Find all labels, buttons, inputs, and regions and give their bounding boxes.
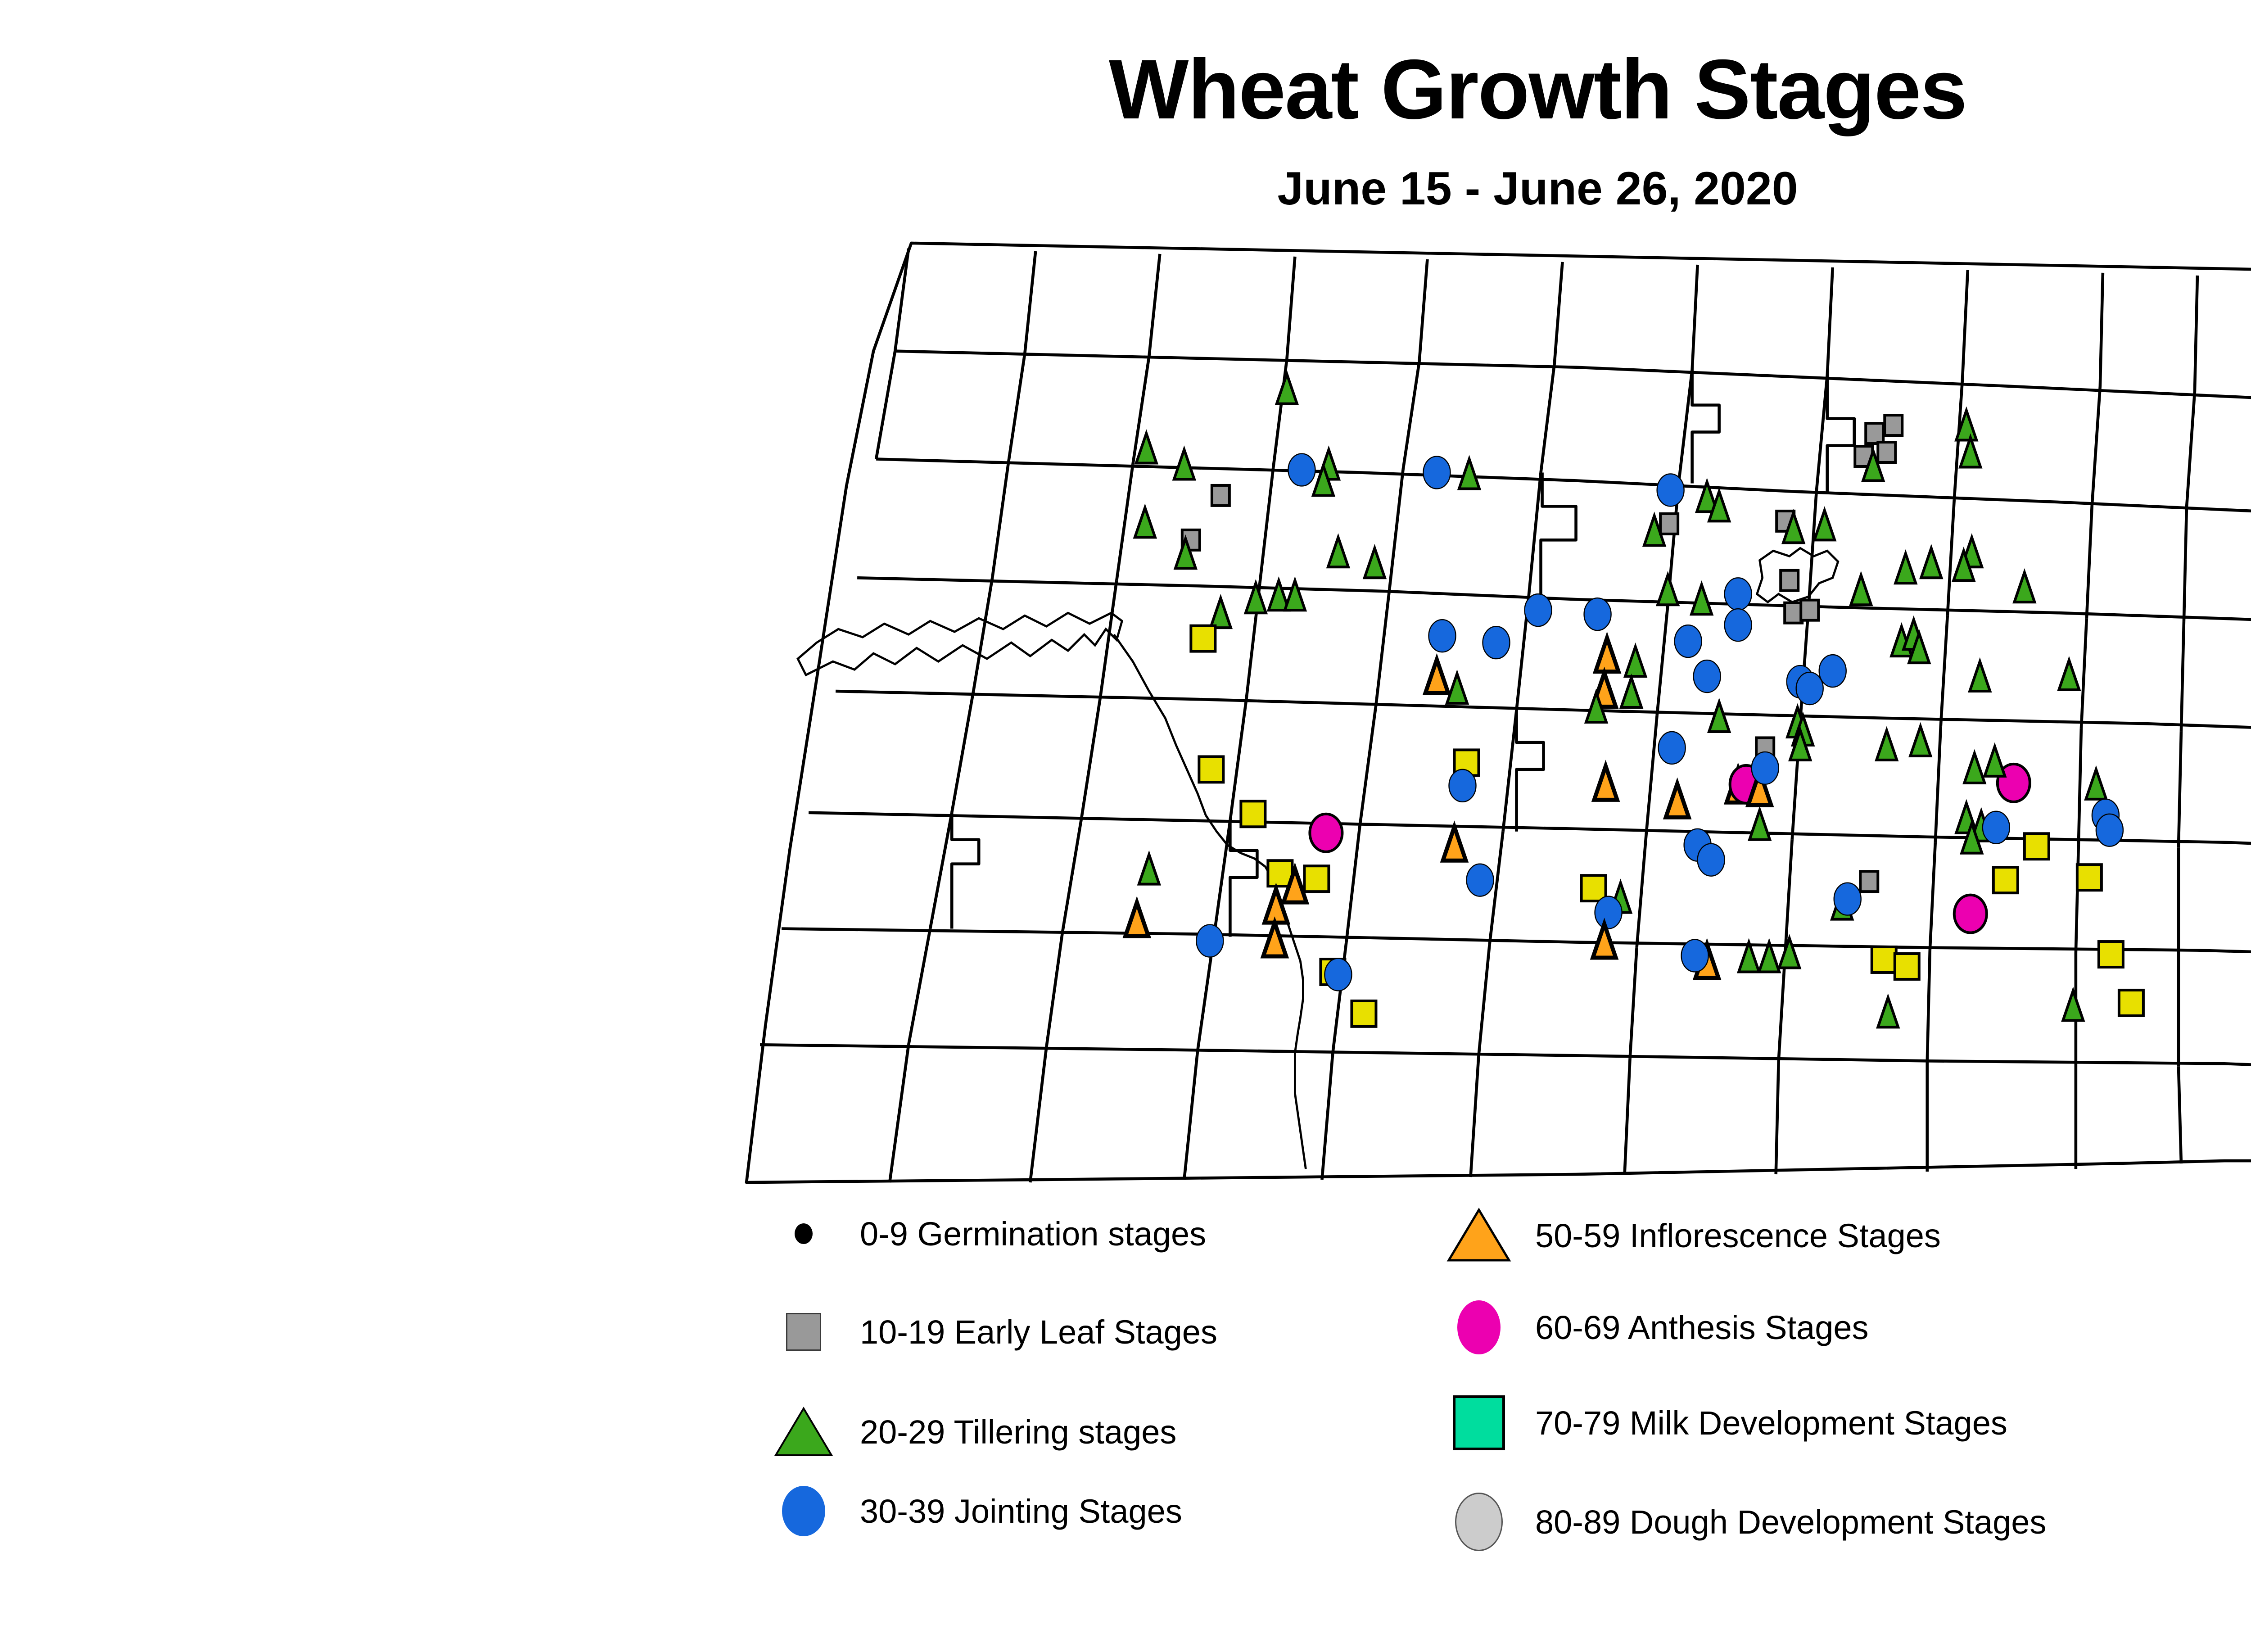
map-marker-20-29[interactable] bbox=[1277, 374, 1297, 404]
map-marker-20-29[interactable] bbox=[1447, 674, 1467, 703]
map-marker-70-79[interactable] bbox=[1304, 866, 1329, 892]
teal-square-icon bbox=[1432, 1378, 1526, 1468]
map-marker-10-19[interactable] bbox=[1885, 415, 1902, 435]
map-marker-20-29[interactable] bbox=[1851, 575, 1871, 605]
map-marker-20-29[interactable] bbox=[1328, 537, 1348, 567]
map-marker-30-39[interactable] bbox=[1423, 457, 1450, 489]
map-marker-20-29[interactable] bbox=[1136, 434, 1157, 463]
legend-item-early-leaf[interactable]: 10-19 Early Leaf Stages bbox=[756, 1287, 1522, 1377]
legend-item-milk[interactable]: 70-79 Milk Development Stages bbox=[1432, 1378, 2197, 1468]
map-marker-70-79[interactable] bbox=[1895, 954, 1919, 979]
legend-item-anthesis[interactable]: 60-69 Anthesis Stages bbox=[1432, 1282, 2197, 1372]
map-marker-30-39[interactable] bbox=[1525, 594, 1552, 626]
legend-label-early-leaf: 10-19 Early Leaf Stages bbox=[860, 1287, 1217, 1377]
map-marker-30-39[interactable] bbox=[1584, 598, 1611, 630]
map-marker-70-79[interactable] bbox=[2025, 833, 2049, 859]
map-marker-20-29[interactable] bbox=[1960, 438, 1980, 467]
map-marker-20-29[interactable] bbox=[1459, 459, 1479, 489]
legend-label-tillering: 20-29 Tillering stages bbox=[860, 1387, 1176, 1477]
orange-triangle-icon bbox=[1432, 1190, 1526, 1281]
map-marker-20-29[interactable] bbox=[1658, 575, 1678, 605]
map-marker-30-39[interactable] bbox=[1288, 454, 1315, 486]
map-marker-30-39[interactable] bbox=[1324, 959, 1352, 991]
map-marker-30-39[interactable] bbox=[1834, 883, 1861, 915]
map-marker-30-39[interactable] bbox=[1483, 626, 1510, 659]
map-marker-10-19[interactable] bbox=[1878, 442, 1895, 462]
green-triangle-icon bbox=[756, 1387, 851, 1477]
map-marker-50-59[interactable] bbox=[1666, 783, 1689, 817]
map-marker-20-29[interactable] bbox=[1895, 553, 1916, 583]
map-marker-20-29[interactable] bbox=[1135, 507, 1155, 537]
map-marker-30-39[interactable] bbox=[1595, 896, 1622, 929]
legend-item-germination[interactable]: 0-9 Germination stages bbox=[756, 1189, 1522, 1279]
map-marker-20-29[interactable] bbox=[1779, 938, 1799, 968]
map-marker-70-79[interactable] bbox=[1241, 801, 1265, 827]
legend-item-tillering[interactable]: 20-29 Tillering stages bbox=[756, 1387, 1522, 1477]
map-legend: 0-9 Germination stages 10-19 Early Leaf … bbox=[756, 1189, 2251, 1594]
north-dakota-map[interactable] bbox=[630, 216, 2251, 1207]
map-marker-30-39[interactable] bbox=[1657, 474, 1684, 506]
map-svg bbox=[630, 216, 2251, 1207]
map-marker-20-29[interactable] bbox=[1921, 548, 1941, 578]
map-marker-10-19[interactable] bbox=[1866, 423, 1883, 444]
map-marker-30-39[interactable] bbox=[1725, 609, 1752, 641]
map-marker-60-69[interactable] bbox=[1954, 895, 1987, 933]
map-marker-20-29[interactable] bbox=[1910, 726, 1930, 756]
legend-label-jointing: 30-39 Jointing Stages bbox=[860, 1466, 1182, 1556]
map-marker-20-29[interactable] bbox=[1709, 702, 1729, 732]
map-marker-70-79[interactable] bbox=[1993, 867, 2018, 893]
map-marker-30-39[interactable] bbox=[1819, 655, 1846, 687]
map-marker-30-39[interactable] bbox=[1725, 578, 1752, 610]
map-marker-20-29[interactable] bbox=[1876, 730, 1897, 760]
map-marker-50-59[interactable] bbox=[1594, 766, 1617, 800]
legend-label-inflorescence: 50-59 Inflorescence Stages bbox=[1535, 1190, 1941, 1281]
map-marker-50-59[interactable] bbox=[1265, 889, 1288, 923]
map-marker-10-19[interactable] bbox=[1781, 570, 1798, 591]
map-marker-20-29[interactable] bbox=[1984, 747, 2005, 776]
map-marker-20-29[interactable] bbox=[1174, 450, 1194, 480]
map-marker-30-39[interactable] bbox=[1196, 925, 1223, 957]
map-marker-30-39[interactable] bbox=[1681, 940, 1709, 972]
map-marker-30-39[interactable] bbox=[1983, 811, 2010, 844]
map-marker-10-19[interactable] bbox=[1660, 514, 1678, 534]
map-marker-70-79[interactable] bbox=[2077, 864, 2102, 890]
map-marker-70-79[interactable] bbox=[1352, 1001, 1376, 1027]
map-marker-30-39[interactable] bbox=[1659, 732, 1686, 764]
page-subtitle: June 15 - June 26, 2020 bbox=[0, 162, 2251, 216]
map-marker-20-29[interactable] bbox=[2063, 991, 2083, 1020]
legend-column-right: 50-59 Inflorescence Stages 60-69 Anthesi… bbox=[1432, 1189, 2197, 1594]
map-marker-50-59[interactable] bbox=[1263, 923, 1286, 956]
map-marker-30-39[interactable] bbox=[1449, 769, 1476, 802]
map-marker-20-29[interactable] bbox=[1749, 810, 1770, 840]
map-marker-70-79[interactable] bbox=[2099, 941, 2123, 967]
map-marker-10-19[interactable] bbox=[1860, 871, 1878, 892]
legend-column-left: 0-9 Germination stages 10-19 Early Leaf … bbox=[756, 1189, 1522, 1594]
map-marker-20-29[interactable] bbox=[1878, 997, 1898, 1027]
map-marker-20-29[interactable] bbox=[1625, 647, 1645, 676]
map-marker-20-29[interactable] bbox=[1285, 580, 1305, 610]
black-dot-icon bbox=[756, 1189, 851, 1279]
map-marker-30-39[interactable] bbox=[1752, 752, 1779, 784]
legend-item-inflorescence[interactable]: 50-59 Inflorescence Stages bbox=[1432, 1190, 2197, 1281]
map-marker-70-79[interactable] bbox=[1872, 947, 1896, 973]
map-marker-70-79[interactable] bbox=[1582, 875, 1606, 901]
lake-sakakawea-outline bbox=[798, 613, 1122, 675]
map-marker-50-59[interactable] bbox=[1125, 902, 1148, 936]
map-marker-30-39[interactable] bbox=[2096, 814, 2123, 846]
map-marker-70-79[interactable] bbox=[1191, 626, 1215, 652]
page-title: Wheat Growth Stages bbox=[0, 41, 2251, 138]
map-marker-20-29[interactable] bbox=[1814, 510, 1835, 540]
map-marker-60-69[interactable] bbox=[1310, 814, 1342, 852]
map-marker-50-59[interactable] bbox=[1425, 660, 1448, 693]
legend-item-dough[interactable]: 80-89 Dough Development Stages bbox=[1432, 1477, 2197, 1567]
blue-ellipse-icon bbox=[756, 1466, 851, 1556]
map-marker-50-59[interactable] bbox=[1593, 924, 1616, 958]
map-marker-20-29[interactable] bbox=[2059, 660, 2079, 690]
map-marker-20-29[interactable] bbox=[1621, 678, 1641, 707]
map-marker-70-79[interactable] bbox=[2119, 990, 2143, 1016]
legend-label-dough: 80-89 Dough Development Stages bbox=[1535, 1477, 2046, 1567]
legend-label-anthesis: 60-69 Anthesis Stages bbox=[1535, 1282, 1869, 1372]
map-marker-20-29[interactable] bbox=[1139, 855, 1159, 884]
legend-label-milk: 70-79 Milk Development Stages bbox=[1535, 1378, 2007, 1468]
lightgray-ellipse-icon bbox=[1432, 1477, 1526, 1567]
map-marker-30-39[interactable] bbox=[1675, 625, 1702, 657]
map-marker-20-29[interactable] bbox=[2086, 769, 2106, 799]
legend-item-jointing[interactable]: 30-39 Jointing Stages bbox=[756, 1466, 1522, 1556]
map-marker-20-29[interactable] bbox=[1739, 942, 1759, 972]
map-marker-20-29[interactable] bbox=[1970, 661, 1990, 691]
map-marker-30-39[interactable] bbox=[1796, 672, 1823, 705]
map-marker-50-59[interactable] bbox=[1443, 827, 1466, 860]
map-marker-50-59[interactable] bbox=[1596, 638, 1618, 672]
magenta-ellipse-icon bbox=[1432, 1282, 1526, 1372]
map-marker-70-79[interactable] bbox=[1199, 756, 1223, 782]
map-marker-20-29[interactable] bbox=[2014, 572, 2034, 602]
gray-square-icon bbox=[756, 1287, 851, 1377]
map-marker-10-19[interactable] bbox=[1801, 600, 1818, 620]
map-marker-30-39[interactable] bbox=[1428, 620, 1455, 652]
county-boundaries bbox=[746, 243, 2251, 1182]
map-marker-20-29[interactable] bbox=[1964, 753, 1984, 783]
map-marker-20-29[interactable] bbox=[1365, 548, 1385, 578]
map-marker-10-19[interactable] bbox=[1212, 485, 1229, 506]
legend-label-germination: 0-9 Germination stages bbox=[860, 1189, 1206, 1279]
map-marker-20-29[interactable] bbox=[1691, 584, 1712, 614]
map-marker-20-29[interactable] bbox=[1211, 598, 1231, 628]
map-marker-30-39[interactable] bbox=[1694, 660, 1721, 692]
map-marker-30-39[interactable] bbox=[1698, 844, 1725, 876]
map-marker-30-39[interactable] bbox=[1467, 864, 1494, 896]
